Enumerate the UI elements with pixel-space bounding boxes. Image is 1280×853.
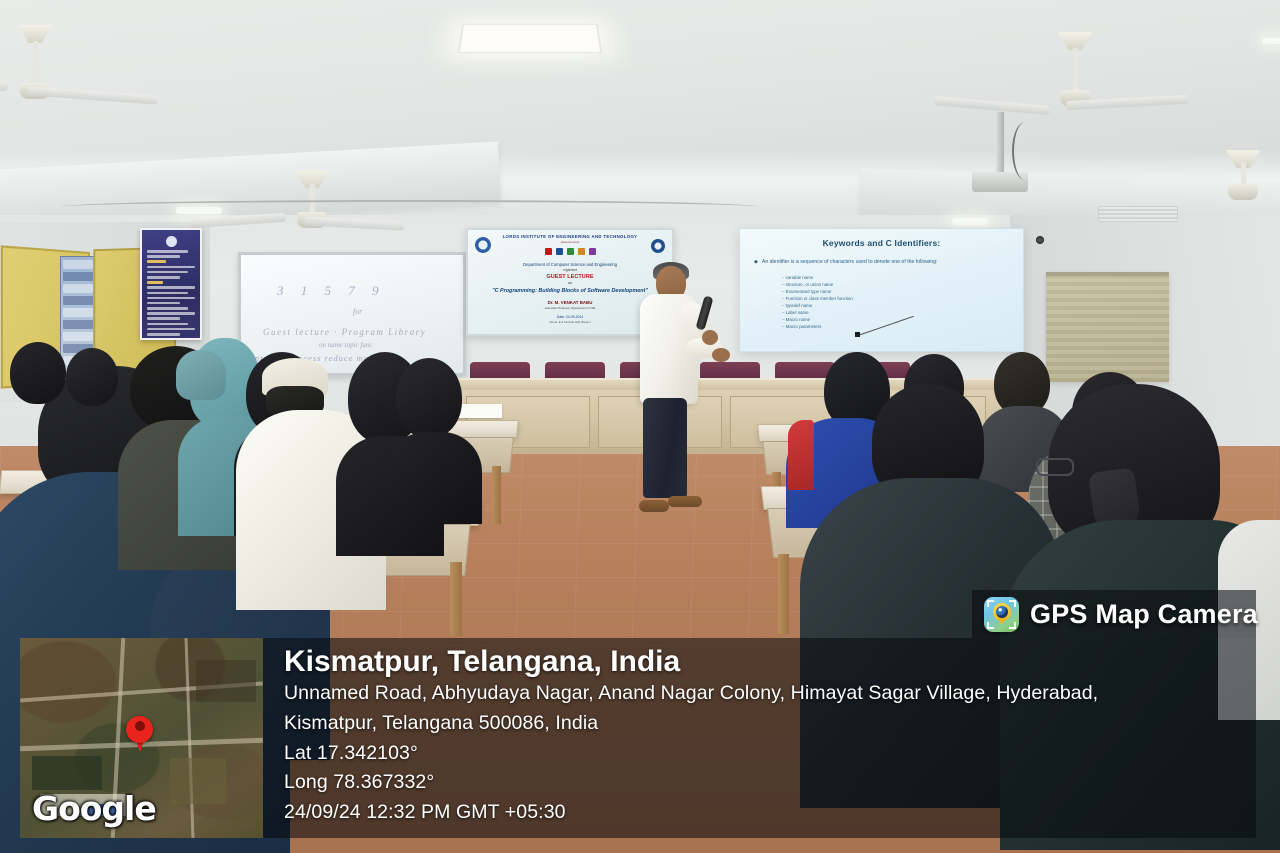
bracket-bottom-right-icon xyxy=(1009,622,1016,629)
map-road xyxy=(185,638,195,838)
banner-institute: LORDS INSTITUTE OF ENGINEERING AND TECHN… xyxy=(468,234,672,239)
notebook-page xyxy=(456,404,502,418)
bullet-dot-icon: ◆ xyxy=(754,259,758,267)
presenter-sandal xyxy=(639,500,669,512)
list-item: structure, or union name xyxy=(782,281,1009,288)
institute-logo-right-icon xyxy=(651,239,665,253)
tube-light-far-right xyxy=(1262,38,1280,44)
slide-title: Keywords and C Identifiers: xyxy=(754,238,1009,248)
desk-leg xyxy=(492,466,501,524)
tube-light-right xyxy=(952,218,988,225)
ceiling-fan-left xyxy=(0,25,70,105)
slide-bullet-text: An identifier is a sequence of character… xyxy=(762,259,938,267)
poster-logo-icon xyxy=(166,236,177,247)
photo-canvas: 3 1 5 7 9 for Guest lecture · Program Li… xyxy=(0,0,1280,853)
projection-screen: Keywords and C Identifiers: ◆ An identif… xyxy=(739,228,1024,352)
desk-leg xyxy=(778,554,789,634)
wall-speaker-icon xyxy=(1036,236,1044,244)
bracket-top-left-icon xyxy=(987,600,994,607)
ceiling-fan-right xyxy=(1042,32,1108,118)
banner-department: Department of Computer Science and Engin… xyxy=(468,262,672,267)
presenter-sandal xyxy=(668,496,702,507)
banner-amp: on xyxy=(468,281,672,285)
projector-cable xyxy=(1012,122,1038,180)
window-roller-blind xyxy=(1046,272,1169,382)
banner-topic: "C Programming: Building Blocks of Softw… xyxy=(468,288,672,294)
list-item: Function or class member function xyxy=(782,295,1009,302)
wall-poster xyxy=(140,228,202,340)
address-line-2: Kismatpur, Telangana 500086, India xyxy=(284,709,1244,739)
head xyxy=(10,342,66,404)
list-item: Enumerated type name xyxy=(782,288,1009,295)
gps-camera-pin-icon xyxy=(984,597,1019,632)
camera-lens-icon xyxy=(996,606,1008,618)
torso xyxy=(386,432,482,524)
jacket-stripe xyxy=(788,420,814,490)
gps-map-camera-badge: GPS Map Camera xyxy=(972,590,1256,638)
banner-institute-sub: (Autonomous) xyxy=(468,240,672,244)
list-item: typedef name xyxy=(782,302,1009,309)
head xyxy=(176,350,226,400)
ceiling-fan-far-right xyxy=(1218,150,1268,210)
list-item: Label name xyxy=(782,309,1009,316)
ceiling-air-vent xyxy=(1098,206,1178,222)
ceiling-panel-light xyxy=(458,24,603,54)
bracket-bottom-left-icon xyxy=(987,622,994,629)
presenter-trousers xyxy=(643,398,687,498)
longitude: Long 78.367332° xyxy=(284,768,1244,798)
map-thumbnail: Google xyxy=(20,638,263,838)
presenter-hand xyxy=(702,330,718,345)
head xyxy=(66,348,118,406)
list-item: Macro parameters xyxy=(782,323,1009,330)
google-watermark: Google xyxy=(32,789,156,828)
wall-cable xyxy=(60,200,760,214)
map-field xyxy=(196,660,256,702)
head xyxy=(396,358,462,438)
desk-leg xyxy=(450,562,462,636)
location-title: Kismatpur, Telangana, India xyxy=(284,644,1244,679)
map-building xyxy=(32,756,102,790)
institute-logo-left-icon xyxy=(475,237,491,253)
gps-app-name: GPS Map Camera xyxy=(1030,599,1258,630)
banner-event-type: GUEST LECTURE xyxy=(468,274,672,280)
latitude: Lat 17.342103° xyxy=(284,739,1244,769)
eyeglasses xyxy=(1036,458,1074,476)
projector-mount-arm xyxy=(996,112,1004,178)
map-field xyxy=(170,758,226,804)
map-pin-icon xyxy=(126,716,153,743)
banner-organised: organised xyxy=(468,268,672,272)
address-line-1: Unnamed Road, Abhyudaya Nagar, Anand Nag… xyxy=(284,679,1244,709)
list-item: variable name xyxy=(782,274,1009,281)
timestamp: 24/09/24 12:32 PM GMT +05:30 xyxy=(284,798,1244,828)
banner-icon-row xyxy=(468,248,672,255)
slide-bullet: ◆ An identifier is a sequence of charact… xyxy=(754,259,1009,267)
gps-text-block: Kismatpur, Telangana, India Unnamed Road… xyxy=(284,644,1244,828)
bracket-top-right-icon xyxy=(1009,600,1016,607)
presenter-hand xyxy=(712,348,730,362)
